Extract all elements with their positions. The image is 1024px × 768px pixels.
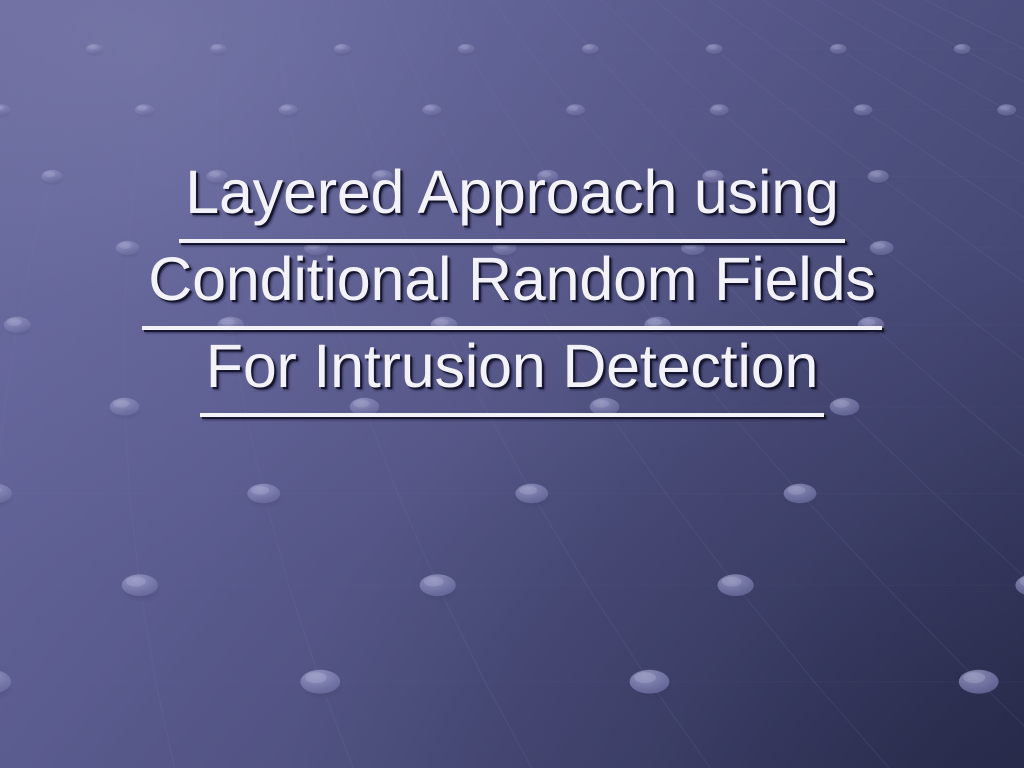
title-line-2: Conditional Random Fields: [0, 237, 1024, 324]
title-slide: Layered Approach using Conditional Rando…: [0, 0, 1024, 768]
title-line-2-text: Conditional Random Fields: [148, 237, 875, 324]
slide-title: Layered Approach using Conditional Rando…: [0, 150, 1024, 411]
title-line-1-text: Layered Approach using: [185, 150, 839, 237]
title-line-3-text: For Intrusion Detection: [206, 324, 818, 411]
title-line-3: For Intrusion Detection: [0, 324, 1024, 411]
title-line-1: Layered Approach using: [0, 150, 1024, 237]
